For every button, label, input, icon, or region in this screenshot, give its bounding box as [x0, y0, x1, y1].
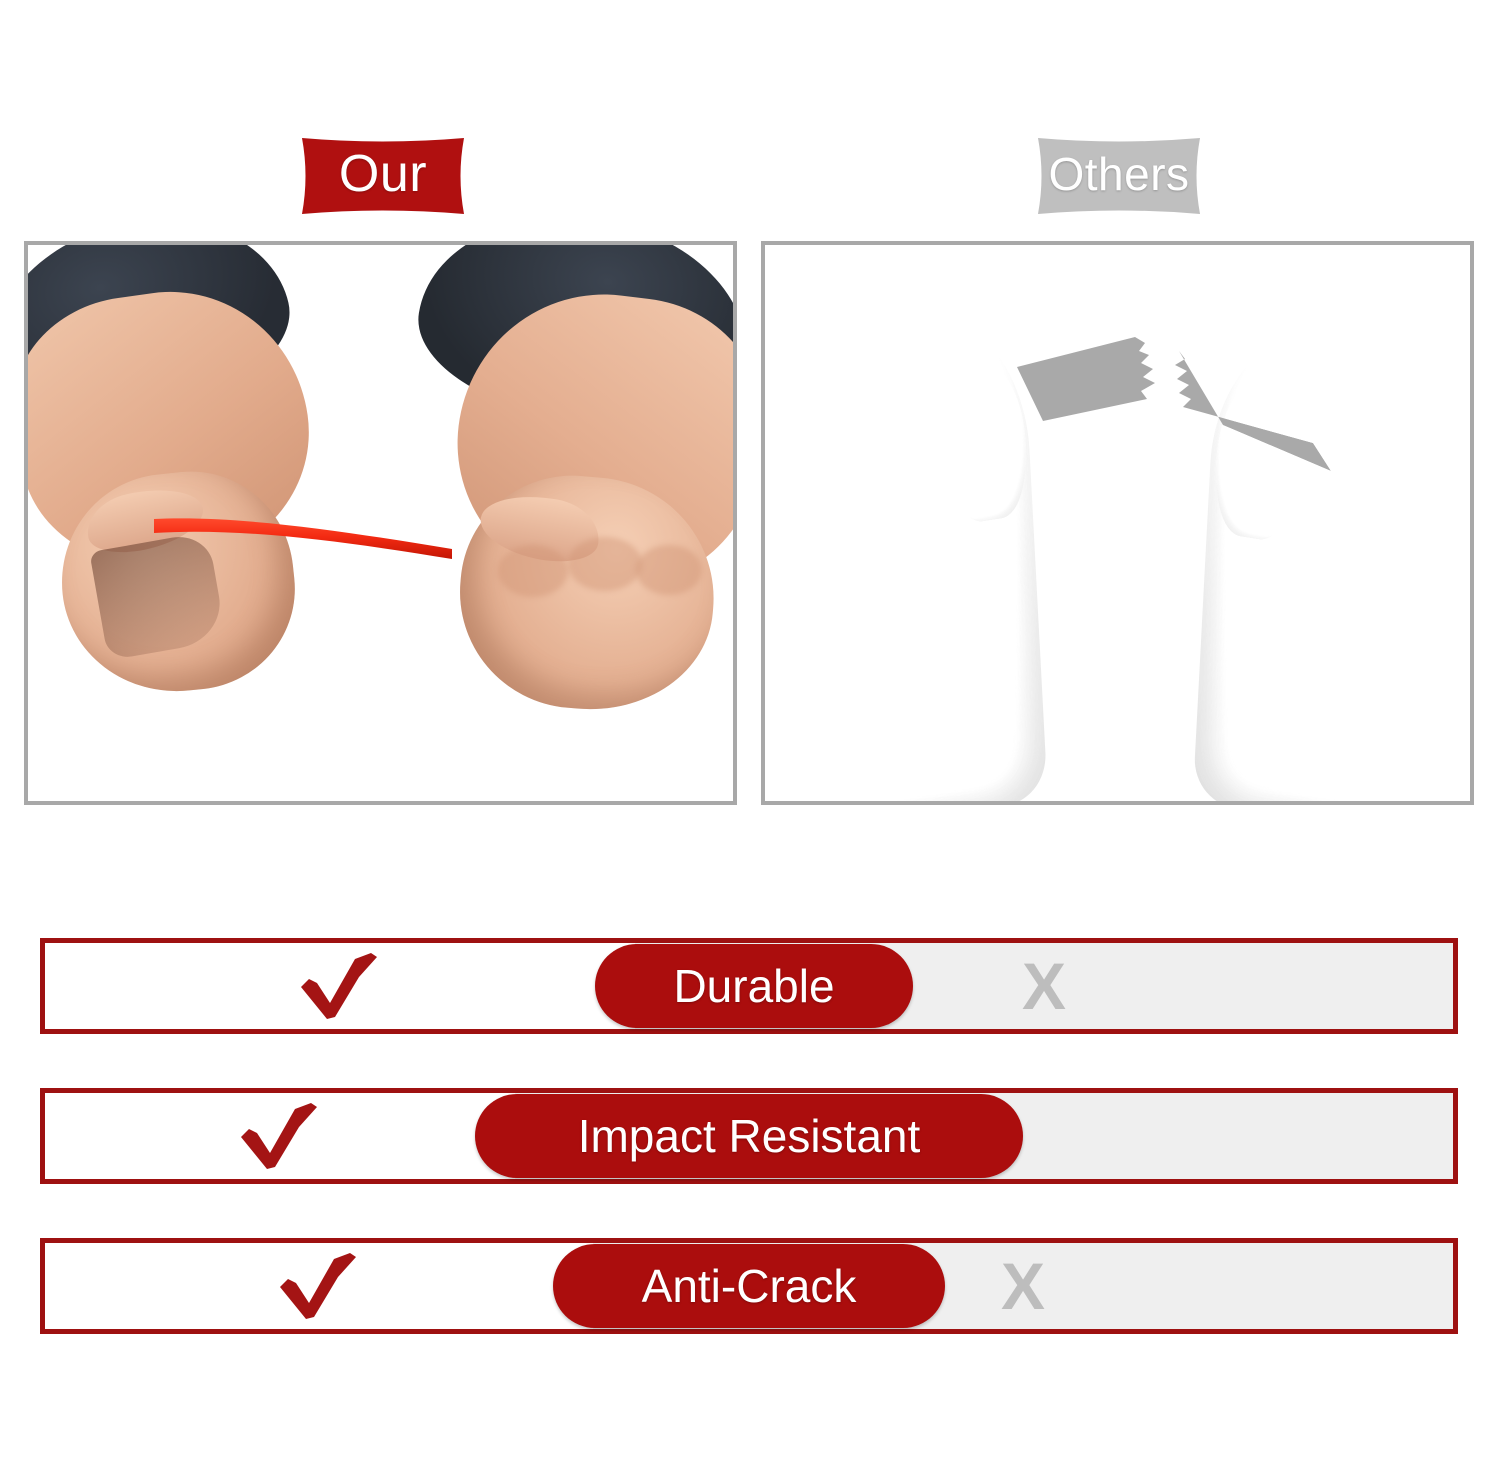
others-photo-content	[765, 245, 1470, 801]
our-badge: Our	[296, 134, 470, 218]
comparison-row: X Anti-Crack	[40, 1238, 1458, 1334]
comparison-row: X Impact Resistant	[40, 1088, 1458, 1184]
our-badge-label: Our	[339, 148, 427, 204]
our-cell	[45, 1093, 515, 1179]
knuckle-2	[568, 537, 642, 591]
check-icon	[276, 1251, 362, 1321]
cross-icon: X	[1022, 953, 1066, 1019]
check-icon	[237, 1101, 323, 1171]
broken-tool-left-piece	[1015, 335, 1175, 455]
knuckle-3	[636, 545, 702, 595]
knuckle-1	[498, 545, 568, 597]
cross-icon: X	[1001, 1253, 1045, 1319]
cross-icon: X	[962, 1103, 1006, 1169]
others-cell: X	[635, 943, 1453, 1029]
our-cell	[45, 1243, 593, 1329]
hand-left-bw	[772, 299, 1048, 801]
broken-tool-right-piece	[1163, 345, 1333, 475]
our-product-photo	[24, 241, 737, 805]
others-product-photo	[761, 241, 1474, 805]
comparison-row: X Durable	[40, 938, 1458, 1034]
others-cell: X	[515, 1093, 1453, 1179]
others-badge: Others	[1032, 134, 1206, 218]
our-photo-content	[28, 245, 733, 801]
others-cell: X	[593, 1243, 1453, 1329]
others-badge-label: Others	[1048, 151, 1189, 201]
flexible-red-tool	[154, 513, 454, 559]
check-icon	[297, 951, 383, 1021]
our-cell	[45, 943, 635, 1029]
